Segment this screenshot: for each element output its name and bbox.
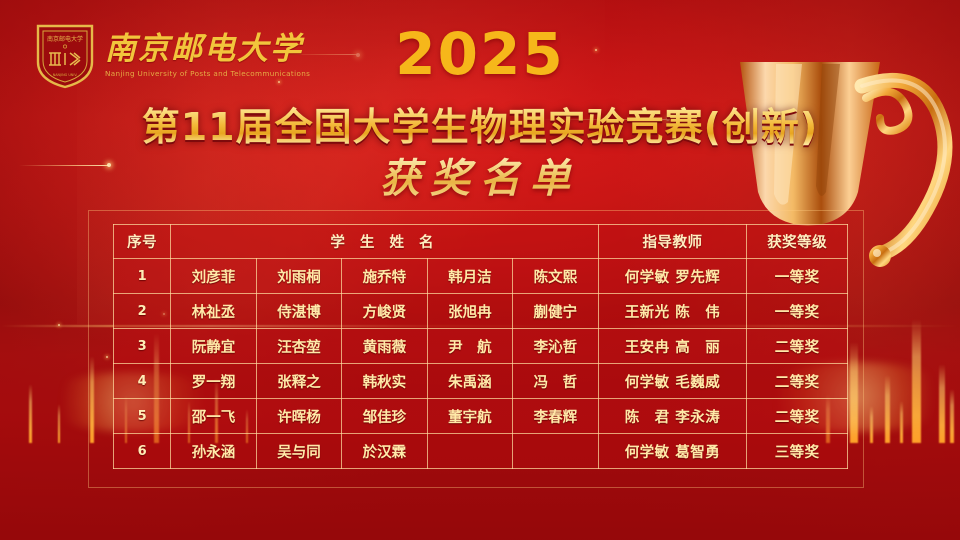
cell-student-name: 邹佳珍 xyxy=(342,399,427,434)
table-row: 3阮静宜汪杏堃黄雨薇尹 航李沁哲王安冉 高 丽二等奖 xyxy=(114,329,848,364)
cell-student-name: 冯 哲 xyxy=(513,364,598,399)
cell-index: 3 xyxy=(114,329,171,364)
cell-student-name: 方峻贤 xyxy=(342,294,427,329)
column-header-teacher: 指导教师 xyxy=(598,225,747,259)
spark-particle xyxy=(58,324,60,326)
table-row: 6孙永涵吴与同於汉霖何学敏 葛智勇三等奖 xyxy=(114,434,848,469)
cell-teacher: 何学敏 罗先辉 xyxy=(598,259,747,294)
cell-teacher: 王新光 陈 伟 xyxy=(598,294,747,329)
cell-student-name: 蒯健宁 xyxy=(513,294,598,329)
cell-student-name: 许晖杨 xyxy=(256,399,341,434)
page-subtitle: 获奖名单 xyxy=(0,146,960,204)
cell-student-name xyxy=(513,434,598,469)
cell-student-name: 韩秋实 xyxy=(342,364,427,399)
column-header-students: 学 生 姓 名 xyxy=(171,225,598,259)
page-title: 第11届全国大学生物理实验竞赛(创新) xyxy=(0,96,960,151)
cell-award-level: 三等奖 xyxy=(747,434,848,469)
cell-student-name: 张旭冉 xyxy=(427,294,512,329)
cell-student-name: 韩月洁 xyxy=(427,259,512,294)
cell-student-name: 李沁哲 xyxy=(513,329,598,364)
cell-student-name: 於汉霖 xyxy=(342,434,427,469)
poster-header: 南京邮电大学 NANJING UNIV. 南京邮电大学 Nanjing Univ… xyxy=(0,0,960,205)
column-header-index: 序号 xyxy=(114,225,171,259)
table-row: 1刘彦菲刘雨桐施乔特韩月洁陈文熙何学敏 罗先辉一等奖 xyxy=(114,259,848,294)
cell-student-name: 李春辉 xyxy=(513,399,598,434)
cell-student-name: 朱禹涵 xyxy=(427,364,512,399)
cell-index: 4 xyxy=(114,364,171,399)
cell-student-name: 张释之 xyxy=(256,364,341,399)
cell-index: 1 xyxy=(114,259,171,294)
cell-award-level: 二等奖 xyxy=(747,399,848,434)
cell-student-name xyxy=(427,434,512,469)
cell-student-name: 黄雨薇 xyxy=(342,329,427,364)
cell-student-name: 邵一飞 xyxy=(171,399,256,434)
cell-index: 6 xyxy=(114,434,171,469)
column-header-level: 获奖等级 xyxy=(747,225,848,259)
cell-student-name: 侍湛博 xyxy=(256,294,341,329)
cell-teacher: 王安冉 高 丽 xyxy=(598,329,747,364)
cell-student-name: 刘雨桐 xyxy=(256,259,341,294)
cell-index: 5 xyxy=(114,399,171,434)
cell-teacher: 何学敏 葛智勇 xyxy=(598,434,747,469)
cell-student-name: 尹 航 xyxy=(427,329,512,364)
cell-student-name: 汪杏堃 xyxy=(256,329,341,364)
cell-award-level: 二等奖 xyxy=(747,329,848,364)
cell-student-name: 林祉丞 xyxy=(171,294,256,329)
cell-teacher: 陈 君 李永涛 xyxy=(598,399,747,434)
cell-index: 2 xyxy=(114,294,171,329)
cell-student-name: 孙永涵 xyxy=(171,434,256,469)
awards-table: 序号 学 生 姓 名 指导教师 获奖等级 1刘彦菲刘雨桐施乔特韩月洁陈文熙何学敏… xyxy=(113,224,848,469)
cell-teacher: 何学敏 毛巍威 xyxy=(598,364,747,399)
cell-student-name: 陈文熙 xyxy=(513,259,598,294)
table-row: 5邵一飞许晖杨邹佳珍董宇航李春辉陈 君 李永涛二等奖 xyxy=(114,399,848,434)
cell-award-level: 一等奖 xyxy=(747,259,848,294)
table-header-row: 序号 学 生 姓 名 指导教师 获奖等级 xyxy=(114,225,848,259)
cell-student-name: 刘彦菲 xyxy=(171,259,256,294)
awards-table-container: 序号 学 生 姓 名 指导教师 获奖等级 1刘彦菲刘雨桐施乔特韩月洁陈文熙何学敏… xyxy=(113,224,848,469)
table-row: 4罗一翔张释之韩秋实朱禹涵冯 哲何学敏 毛巍威二等奖 xyxy=(114,364,848,399)
cell-student-name: 施乔特 xyxy=(342,259,427,294)
cell-award-level: 二等奖 xyxy=(747,364,848,399)
table-row: 2林祉丞侍湛博方峻贤张旭冉蒯健宁王新光 陈 伟一等奖 xyxy=(114,294,848,329)
cell-student-name: 吴与同 xyxy=(256,434,341,469)
poster-year: 2025 xyxy=(0,20,960,88)
table-header: 序号 学 生 姓 名 指导教师 获奖等级 xyxy=(114,225,848,259)
cell-student-name: 董宇航 xyxy=(427,399,512,434)
table-body: 1刘彦菲刘雨桐施乔特韩月洁陈文熙何学敏 罗先辉一等奖2林祉丞侍湛博方峻贤张旭冉蒯… xyxy=(114,259,848,469)
cell-student-name: 阮静宜 xyxy=(171,329,256,364)
cell-student-name: 罗一翔 xyxy=(171,364,256,399)
cell-award-level: 一等奖 xyxy=(747,294,848,329)
